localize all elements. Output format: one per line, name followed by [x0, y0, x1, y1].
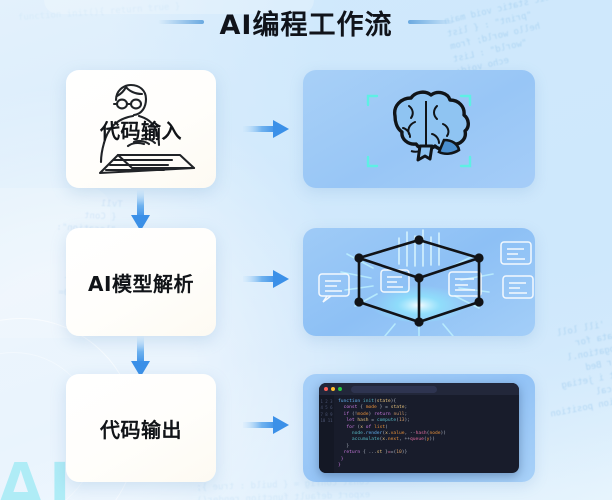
- ai-watermark-text: AI: [0, 445, 72, 500]
- page-title: AI编程工作流: [220, 3, 393, 42]
- visual-panel-brain-scan[interactable]: [303, 70, 535, 188]
- code-content[interactable]: function init(state){ const { mode } = s…: [334, 395, 519, 473]
- step-label-ai-model-parse: AI模型解析: [88, 268, 194, 297]
- title-decoration-line-right: [408, 20, 454, 24]
- code-editor-body: 1 2 3 4 5 6 7 8 9 10 11 function init(st…: [319, 395, 519, 473]
- cube-network-icon: [303, 228, 535, 336]
- brain-icon: [303, 70, 535, 188]
- step-label-code-output: 代码输出: [100, 414, 182, 443]
- arrow-right-icon: [243, 116, 295, 142]
- workflow-infographic: function init(){ return true } public st…: [0, 0, 612, 500]
- arrow-right-icon: [243, 266, 295, 292]
- step-card-code-input[interactable]: 代码输入: [66, 70, 216, 188]
- code-editor-titlebar: [319, 383, 519, 395]
- title-row: AI编程工作流: [0, 2, 612, 42]
- step-label-code-input: 代码输入: [100, 115, 182, 144]
- arrow-right-icon: [243, 412, 295, 438]
- close-dot-icon[interactable]: [324, 387, 328, 391]
- code-editor-window[interactable]: 1 2 3 4 5 6 7 8 9 10 11 function init(st…: [319, 383, 519, 473]
- maximize-dot-icon[interactable]: [338, 387, 342, 391]
- line-number-gutter: 1 2 3 4 5 6 7 8 9 10 11: [319, 395, 334, 473]
- title-decoration-line-left: [158, 20, 204, 24]
- step-card-code-output[interactable]: 代码输出: [66, 374, 216, 482]
- minimize-dot-icon[interactable]: [331, 387, 335, 391]
- visual-panel-code-editor[interactable]: 1 2 3 4 5 6 7 8 9 10 11 function init(st…: [303, 374, 535, 482]
- address-pill[interactable]: [351, 386, 437, 393]
- step-card-ai-model-parse[interactable]: AI模型解析: [66, 228, 216, 336]
- visual-panel-wireframe-cube[interactable]: [303, 228, 535, 336]
